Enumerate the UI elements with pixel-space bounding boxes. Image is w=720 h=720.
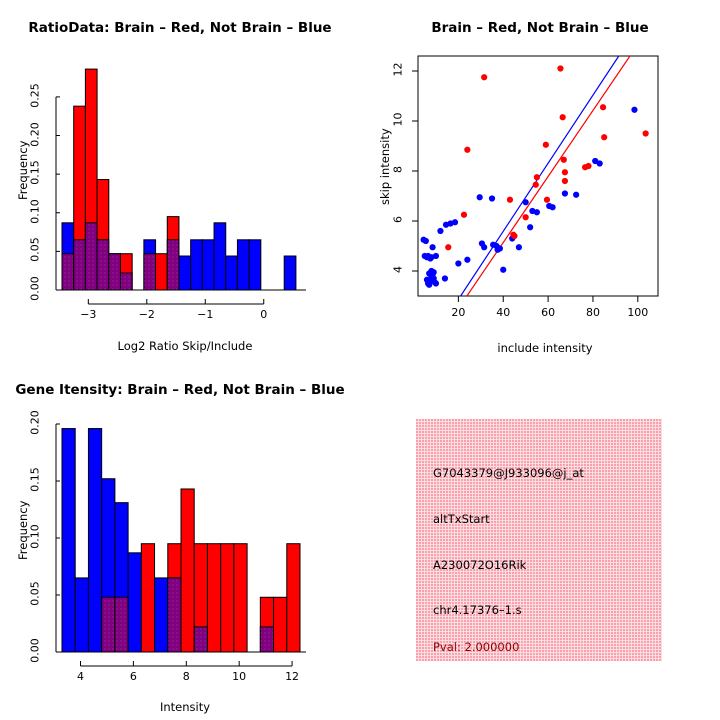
scatter-point bbox=[585, 163, 591, 169]
y-tick-label: 0.15 bbox=[29, 153, 42, 193]
x-tick-label: 12 bbox=[272, 670, 312, 683]
hist-bin bbox=[181, 489, 194, 652]
x-tick-label: 100 bbox=[618, 306, 658, 319]
x-tick-label: 4 bbox=[61, 670, 101, 683]
scatter-point bbox=[497, 245, 503, 251]
y-tick-label: 0.05 bbox=[29, 574, 42, 614]
ratio-hist-plot bbox=[0, 0, 360, 360]
y-tick-label: 6 bbox=[392, 205, 405, 235]
red-fit-line bbox=[467, 56, 630, 296]
panel-intensity-scatter: Brain – Red, Not Brain – Blue skip inten… bbox=[360, 0, 720, 360]
gene-hist-plot bbox=[0, 360, 360, 720]
x-tick-label: −1 bbox=[185, 308, 225, 321]
scatter-point bbox=[597, 160, 603, 166]
y-tick-label: 0.00 bbox=[29, 631, 42, 671]
hist-bin bbox=[120, 254, 132, 290]
scatter-point bbox=[544, 197, 550, 203]
hist-bin bbox=[62, 429, 75, 652]
scatter-point bbox=[481, 74, 487, 80]
scatter-point bbox=[523, 199, 529, 205]
scatter-point bbox=[534, 174, 540, 180]
y-tick-label: 0.25 bbox=[29, 75, 42, 115]
hist-bin bbox=[234, 544, 247, 652]
figure-canvas: RatioData: Brain – Red, Not Brain – Blue… bbox=[0, 0, 720, 720]
scatter-point bbox=[431, 269, 437, 275]
info-locus-id: chr4.17376–1.s bbox=[433, 603, 522, 617]
scatter-point bbox=[557, 65, 563, 71]
hist-bin bbox=[155, 578, 168, 652]
hist-bin bbox=[75, 578, 88, 652]
scatter-point bbox=[481, 244, 487, 250]
y-tick-label: 12 bbox=[392, 55, 405, 85]
scatter-point bbox=[534, 209, 540, 215]
y-tick-label: 10 bbox=[392, 105, 405, 135]
hist-bin bbox=[249, 240, 261, 290]
panel-gene-histogram: Gene Itensity: Brain – Red, Not Brain – … bbox=[0, 360, 360, 720]
scatter-point bbox=[452, 219, 458, 225]
y-tick-label: 8 bbox=[392, 155, 405, 185]
x-tick-label: 60 bbox=[528, 306, 568, 319]
scatter-point bbox=[562, 169, 568, 175]
x-tick-label: 8 bbox=[166, 670, 206, 683]
info-background-box bbox=[416, 419, 662, 661]
scatter-point bbox=[511, 233, 517, 239]
x-tick-label: 0 bbox=[244, 308, 284, 321]
scatter-point bbox=[643, 130, 649, 136]
scatter-point bbox=[523, 214, 529, 220]
y-tick-label: 0.10 bbox=[29, 517, 42, 557]
scatter-point bbox=[464, 257, 470, 263]
x-tick-label: 80 bbox=[573, 306, 613, 319]
scatter-point bbox=[429, 244, 435, 250]
x-tick-label: 20 bbox=[438, 306, 478, 319]
hist-bin bbox=[221, 544, 234, 652]
scatter-point bbox=[546, 203, 552, 209]
x-tick-label: −2 bbox=[127, 308, 167, 321]
scatter-point bbox=[561, 157, 567, 163]
scatter-points bbox=[421, 65, 649, 287]
scatter-point bbox=[601, 134, 607, 140]
hist-bin bbox=[168, 544, 181, 652]
panel-annotation-info: G7043379@J933096@j_ataltTxStartA230072O1… bbox=[360, 360, 720, 720]
scatter-point bbox=[600, 104, 606, 110]
scatter-point bbox=[477, 194, 483, 200]
hist-bin bbox=[237, 240, 249, 290]
hist-bin bbox=[156, 254, 168, 290]
y-tick-label: 0.20 bbox=[29, 403, 42, 443]
scatter-point bbox=[437, 228, 443, 234]
x-tick-label: −3 bbox=[68, 308, 108, 321]
hist-bin bbox=[191, 240, 203, 290]
y-tick-label: 0.20 bbox=[29, 114, 42, 154]
scatter-point bbox=[543, 142, 549, 148]
scatter-point bbox=[433, 280, 439, 286]
hist-bin bbox=[74, 106, 86, 290]
x-tick-label: 40 bbox=[483, 306, 523, 319]
y-tick-label: 4 bbox=[392, 255, 405, 285]
scatter-point bbox=[560, 114, 566, 120]
hist-bin bbox=[274, 597, 287, 652]
x-tick-label: 6 bbox=[113, 670, 153, 683]
hist-bin bbox=[144, 240, 156, 290]
info-event-type: altTxStart bbox=[433, 512, 490, 526]
hist-bin bbox=[88, 429, 101, 652]
hist-bin bbox=[102, 479, 115, 652]
scatter-point bbox=[461, 212, 467, 218]
x-tick-label: 10 bbox=[219, 670, 259, 683]
scatter-point bbox=[573, 192, 579, 198]
scatter-point bbox=[527, 224, 533, 230]
hist-bin bbox=[214, 223, 226, 290]
scatter-point bbox=[433, 253, 439, 259]
scatter-point bbox=[631, 107, 637, 113]
hist-bin bbox=[141, 544, 154, 652]
y-tick-label: 0.15 bbox=[29, 460, 42, 500]
scatter-point bbox=[423, 238, 429, 244]
hist-bin bbox=[226, 256, 238, 290]
scatter-point bbox=[507, 197, 513, 203]
hist-bin bbox=[85, 69, 97, 290]
y-tick-label: 0.00 bbox=[29, 269, 42, 309]
scatter-point bbox=[516, 244, 522, 250]
scatter-point bbox=[464, 147, 470, 153]
hist-bin bbox=[207, 544, 220, 652]
scatter-point bbox=[562, 178, 568, 184]
scatter-point bbox=[562, 190, 568, 196]
hist-bin bbox=[167, 217, 179, 290]
hist-bin bbox=[260, 597, 273, 652]
hist-bin bbox=[287, 544, 300, 652]
info-pvalue: Pval: 2.000000 bbox=[433, 640, 519, 654]
info-gene-symbol: A230072O16Rik bbox=[433, 558, 526, 572]
hist-bin bbox=[179, 256, 191, 290]
y-tick-label: 0.10 bbox=[29, 191, 42, 231]
hist-bin bbox=[115, 503, 128, 652]
hist-bin bbox=[97, 180, 109, 290]
hist-bin bbox=[202, 240, 214, 290]
scatter-point bbox=[489, 195, 495, 201]
scatter-point bbox=[500, 267, 506, 273]
info-probeset-id: G7043379@J933096@j_at bbox=[433, 466, 584, 480]
panel-ratio-histogram: RatioData: Brain – Red, Not Brain – Blue… bbox=[0, 0, 360, 360]
scatter-point bbox=[455, 260, 461, 266]
scatter-point bbox=[445, 244, 451, 250]
y-tick-label: 0.05 bbox=[29, 230, 42, 270]
scatter-point bbox=[533, 182, 539, 188]
hist-bin bbox=[128, 553, 141, 652]
hist-bin bbox=[109, 254, 121, 290]
hist-bin bbox=[62, 223, 74, 290]
hist-bin bbox=[284, 256, 296, 290]
hist-bin bbox=[194, 544, 207, 652]
scatter-point bbox=[442, 275, 448, 281]
